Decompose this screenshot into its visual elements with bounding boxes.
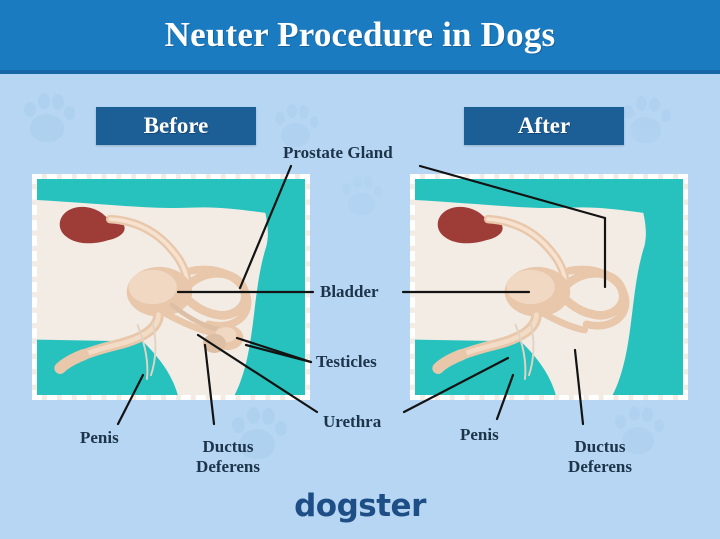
ductus-deferens-right-line2: Deferens: [568, 457, 632, 476]
diagram-panel-after: [410, 174, 688, 400]
anatomy-illustration-after: [415, 179, 683, 395]
label-urethra: Urethra: [323, 412, 381, 432]
label-ductus-deferens-left: Ductus Deferens: [178, 437, 278, 477]
section-label-after: After: [464, 107, 624, 145]
page-title: Neuter Procedure in Dogs: [0, 0, 720, 70]
ductus-deferens-right-line1: Ductus: [574, 437, 625, 456]
paw-print-watermark: [340, 174, 386, 220]
diagram-panel-before: [32, 174, 310, 400]
paw-print-watermark: [620, 94, 674, 148]
label-ductus-deferens-right: Ductus Deferens: [550, 437, 650, 477]
label-bladder: Bladder: [320, 282, 379, 302]
label-testicles: Testicles: [316, 352, 377, 372]
label-prostate-gland: Prostate Gland: [283, 143, 393, 163]
ductus-deferens-left-line2: Deferens: [196, 457, 260, 476]
label-penis-right: Penis: [460, 425, 499, 445]
infographic-root: Neuter Procedure in Dogs: [0, 0, 720, 539]
brand-logo[interactable]: dogster: [0, 488, 720, 524]
ductus-deferens-left-line1: Ductus: [202, 437, 253, 456]
label-penis-left: Penis: [80, 428, 119, 448]
section-label-before: Before: [96, 107, 256, 145]
anatomy-illustration-before: [37, 179, 305, 395]
paw-print-watermark: [20, 90, 78, 148]
testicle-organ: [203, 334, 226, 353]
